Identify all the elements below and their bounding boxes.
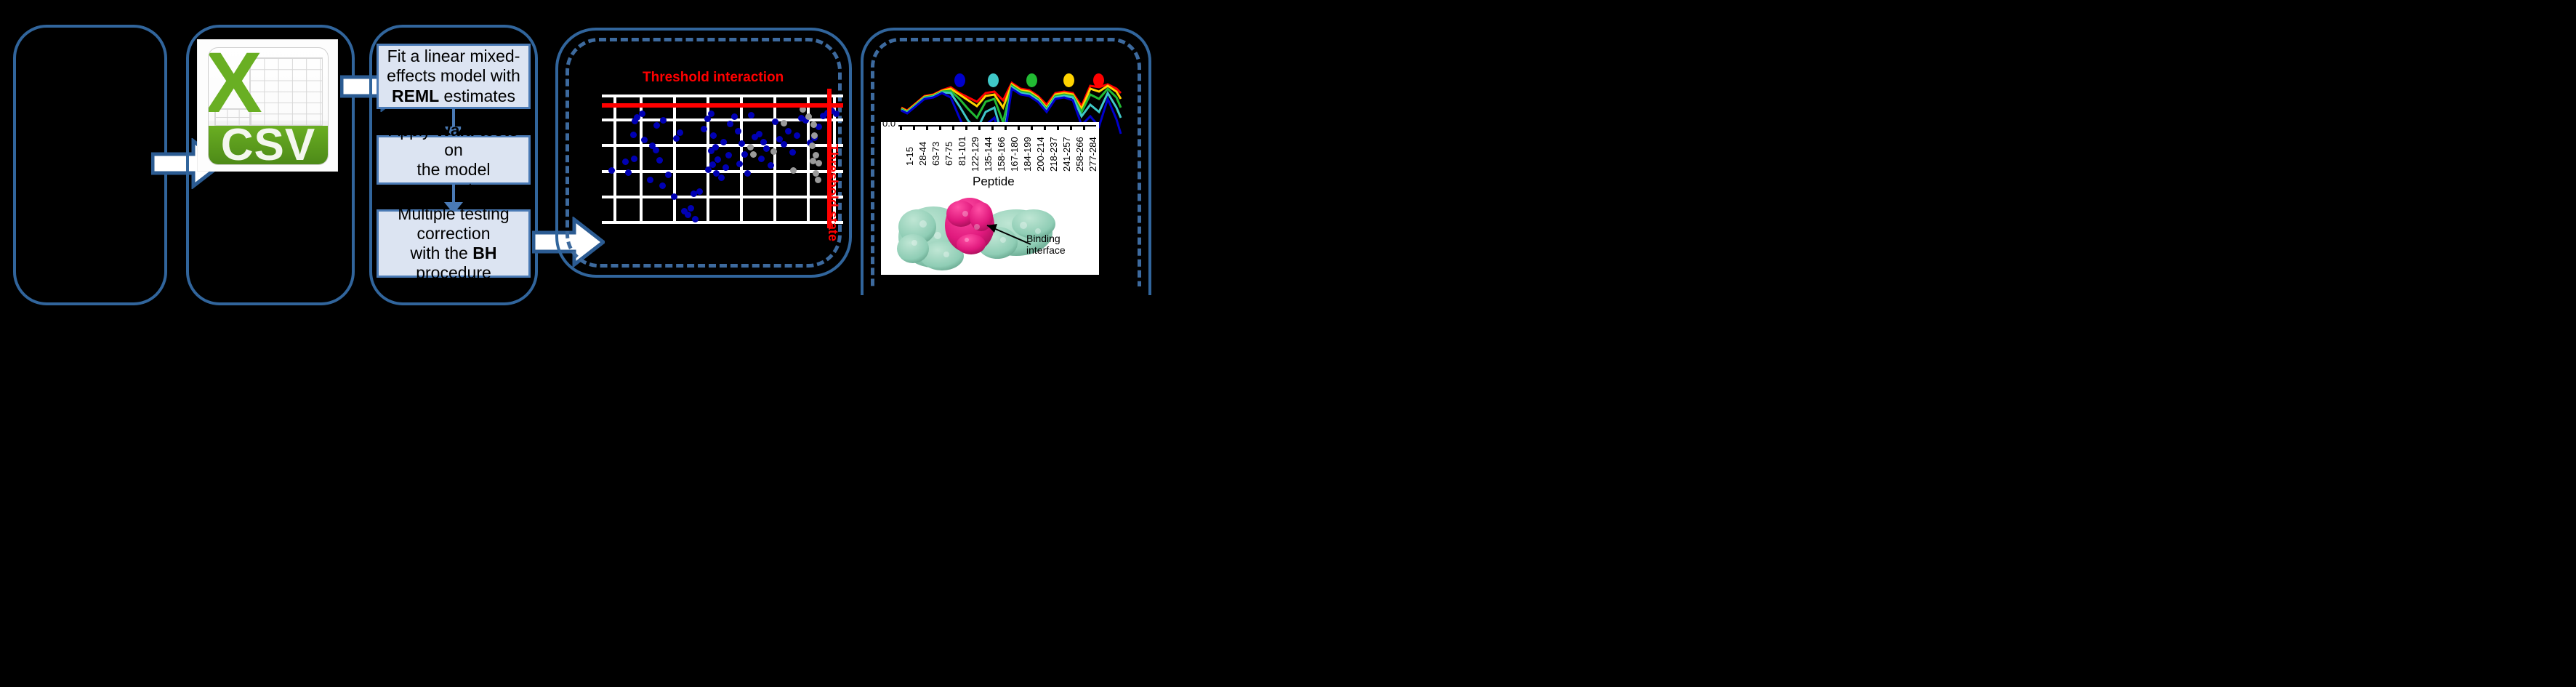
peptide-tick-13: 258-266 <box>1074 137 1085 172</box>
peptide-tick-4: 81-101 <box>957 137 967 166</box>
legend-dot-darkblue <box>954 73 965 87</box>
peptide-tick-6: 135-144 <box>983 137 994 172</box>
pipeline-diagram: X CSV Fit a linear mixed- effects model … <box>0 0 2576 687</box>
legend-dot-red <box>1093 73 1104 87</box>
step3-post: procedure <box>416 263 491 282</box>
binding-interface-annotation: Binding interface <box>1026 233 1066 256</box>
results-figure-panel: 0.0 1-15 28-44 63-73 67-75 81-101 122-12… <box>881 122 1099 275</box>
peptide-tick-9: 184-199 <box>1022 137 1033 172</box>
step-bh-correction[interactable]: Multiple testing correction with the BH … <box>377 209 531 278</box>
step3-line1: Multiple testing <box>398 204 509 223</box>
peptide-tick-12: 241-257 <box>1061 137 1072 172</box>
legend-dot-green <box>1026 73 1037 87</box>
step-wald-tests[interactable]: Apply Wald tests on the model parameters <box>377 135 531 185</box>
step2-pre: Apply <box>389 121 435 140</box>
scatter-plot <box>602 95 843 224</box>
threshold-interaction-line <box>602 103 843 108</box>
legend-dot-yellow <box>1063 73 1074 87</box>
step2-bold: Wald tests <box>435 121 518 140</box>
threshold-interaction-label: Threshold interaction <box>643 70 784 86</box>
csv-file-card: X CSV <box>198 40 337 171</box>
step1-reml: REML <box>392 87 439 105</box>
step1-line2: effects model with <box>387 66 520 85</box>
step-fit-model[interactable]: Fit a linear mixed- effects model with R… <box>377 44 531 109</box>
panel-input <box>13 25 167 305</box>
binding-line1: Binding <box>1026 233 1060 244</box>
peptide-tick-3: 67-75 <box>943 142 954 166</box>
peptide-tick-14: 277-284 <box>1087 137 1098 172</box>
csv-band: CSV <box>209 126 328 164</box>
step2-post: on <box>444 140 463 159</box>
csv-label: CSV <box>221 119 315 165</box>
peptide-tick-10: 200-214 <box>1035 137 1046 172</box>
peptide-tick-5: 122-129 <box>970 137 981 172</box>
excel-x-icon: X <box>214 52 254 113</box>
threshold-state-label: Threshold state <box>825 144 840 241</box>
peptide-tick-2: 63-73 <box>930 142 941 166</box>
step1-line1: Fit a linear mixed- <box>387 47 520 65</box>
x-axis-title: Peptide <box>973 174 1015 189</box>
peptide-tick-0: 1-15 <box>904 147 915 166</box>
peptide-tick-1: 28-44 <box>917 142 928 166</box>
legend-dot-cyan <box>988 73 999 87</box>
y-tick-label: 0.0 <box>882 118 895 129</box>
step3-bold: BH <box>472 244 496 262</box>
step3-line2: correction <box>417 224 491 243</box>
binding-line2: interface <box>1026 244 1066 256</box>
peptide-tick-7: 158-166 <box>996 137 1007 172</box>
peptide-tick-11: 218-237 <box>1048 137 1059 172</box>
step1-tail: estimates <box>439 87 515 105</box>
peptide-tick-8: 167-180 <box>1009 137 1020 172</box>
csv-file-icon: X CSV <box>208 47 329 165</box>
step3-pre: with the <box>411 244 473 262</box>
